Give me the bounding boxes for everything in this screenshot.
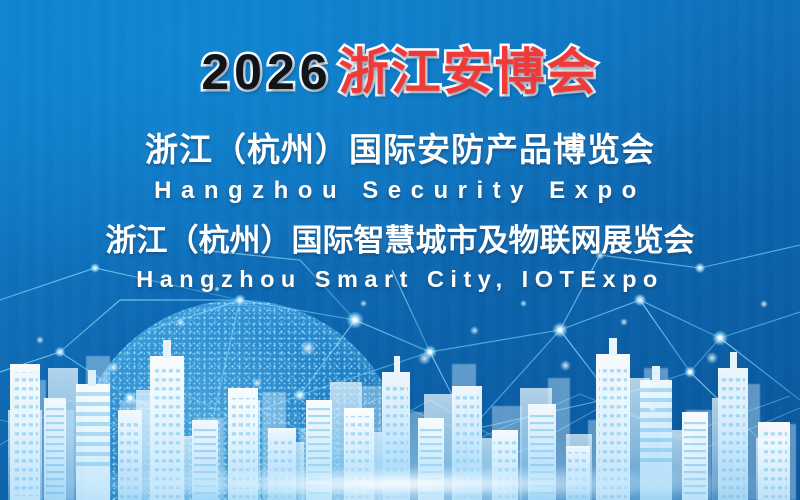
horizon-light-line [0, 468, 800, 494]
event-1-name-cn: 浙江（杭州）国际安防产品博览会 [0, 123, 800, 171]
title-year: 2026 [201, 44, 332, 100]
title-name-cn: 浙江安博会 [339, 44, 599, 100]
event-2-name-cn: 浙江（杭州）国际智慧城市及物联网展览会 [0, 215, 800, 260]
event-2-name-en: Hangzhou Smart City, IOTExpo [0, 266, 800, 293]
banner-text-stack: 2026浙江安博会 浙江（杭州）国际安防产品博览会 Hangzhou Secur… [0, 46, 800, 293]
expo-banner: 2026浙江安博会 浙江（杭州）国际安防产品博览会 Hangzhou Secur… [0, 0, 800, 500]
event-1-name-en: Hangzhou Security Expo [0, 177, 800, 205]
main-title: 2026浙江安博会 [0, 46, 800, 99]
